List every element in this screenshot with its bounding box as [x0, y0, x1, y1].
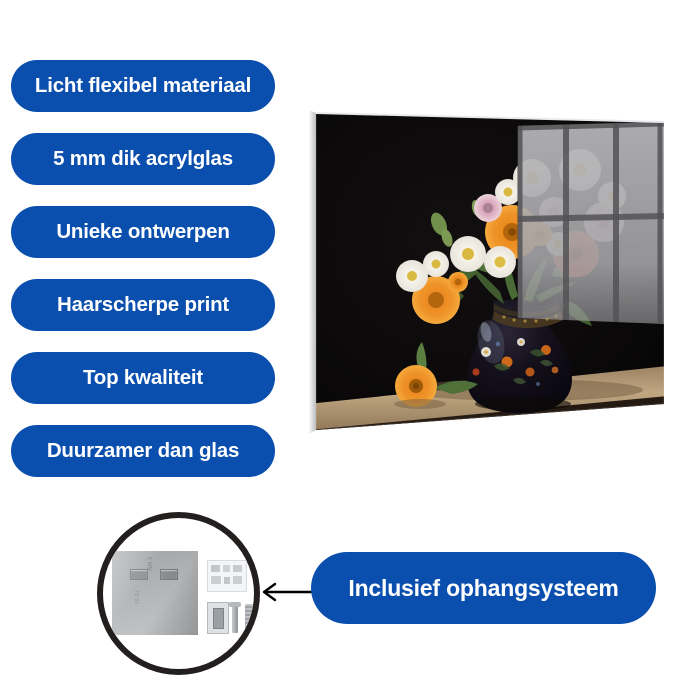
mounting-plate-label: IS 01 [133, 591, 139, 605]
mounting-plate-label: 5 MM [146, 557, 152, 571]
feature-badge-label: Duurzamer dan glas [47, 439, 239, 463]
mounting-plate-slot [130, 569, 148, 580]
feature-badge-unieke-ontwerpen[interactable]: Unieke ontwerpen [11, 206, 275, 258]
screw [232, 602, 238, 633]
feature-badge-label: Unieke ontwerpen [56, 220, 229, 244]
feature-badge-haarscherpe-print[interactable]: Haarscherpe print [11, 279, 275, 331]
feature-badge-licht-flexibel-materiaal[interactable]: Licht flexibel materiaal [11, 60, 275, 112]
window-reflection-overlay [518, 122, 664, 324]
hanging-system-photo-circle: 5 MM IS 01 [97, 512, 260, 675]
acrylic-edge-thickness [309, 110, 316, 434]
feature-badge-label: Licht flexibel materiaal [35, 74, 251, 98]
screw-packet [207, 602, 229, 634]
spacer-pad [256, 619, 260, 632]
product-feature-graphic: Licht flexibel materiaal 5 mm dik acrylg… [0, 0, 700, 700]
feature-badge-5-mm-dik-acrylglas[interactable]: 5 mm dik acrylglas [11, 133, 275, 185]
feature-badge-label: 5 mm dik acrylglas [53, 147, 233, 171]
feature-badge-label: Top kwaliteit [83, 366, 203, 390]
instruction-leaflet [207, 560, 247, 592]
artwork-content [308, 104, 676, 444]
acrylic-print-image [308, 104, 676, 444]
callout-arrow-icon [255, 578, 315, 606]
mounting-plate: 5 MM IS 01 [112, 551, 198, 635]
feature-badge-duurzamer-dan-glas[interactable]: Duurzamer dan glas [11, 425, 275, 477]
mounting-plate-slot [160, 569, 178, 580]
feature-badge-top-kwaliteit[interactable]: Top kwaliteit [11, 352, 275, 404]
wall-plug [245, 604, 253, 632]
callout-badge-label: Inclusief ophangsysteem [348, 575, 618, 602]
feature-badge-label: Haarscherpe print [57, 293, 229, 317]
callout-badge-inclusief-ophangsysteem[interactable]: Inclusief ophangsysteem [311, 552, 656, 624]
acrylic-print-preview [308, 104, 676, 444]
